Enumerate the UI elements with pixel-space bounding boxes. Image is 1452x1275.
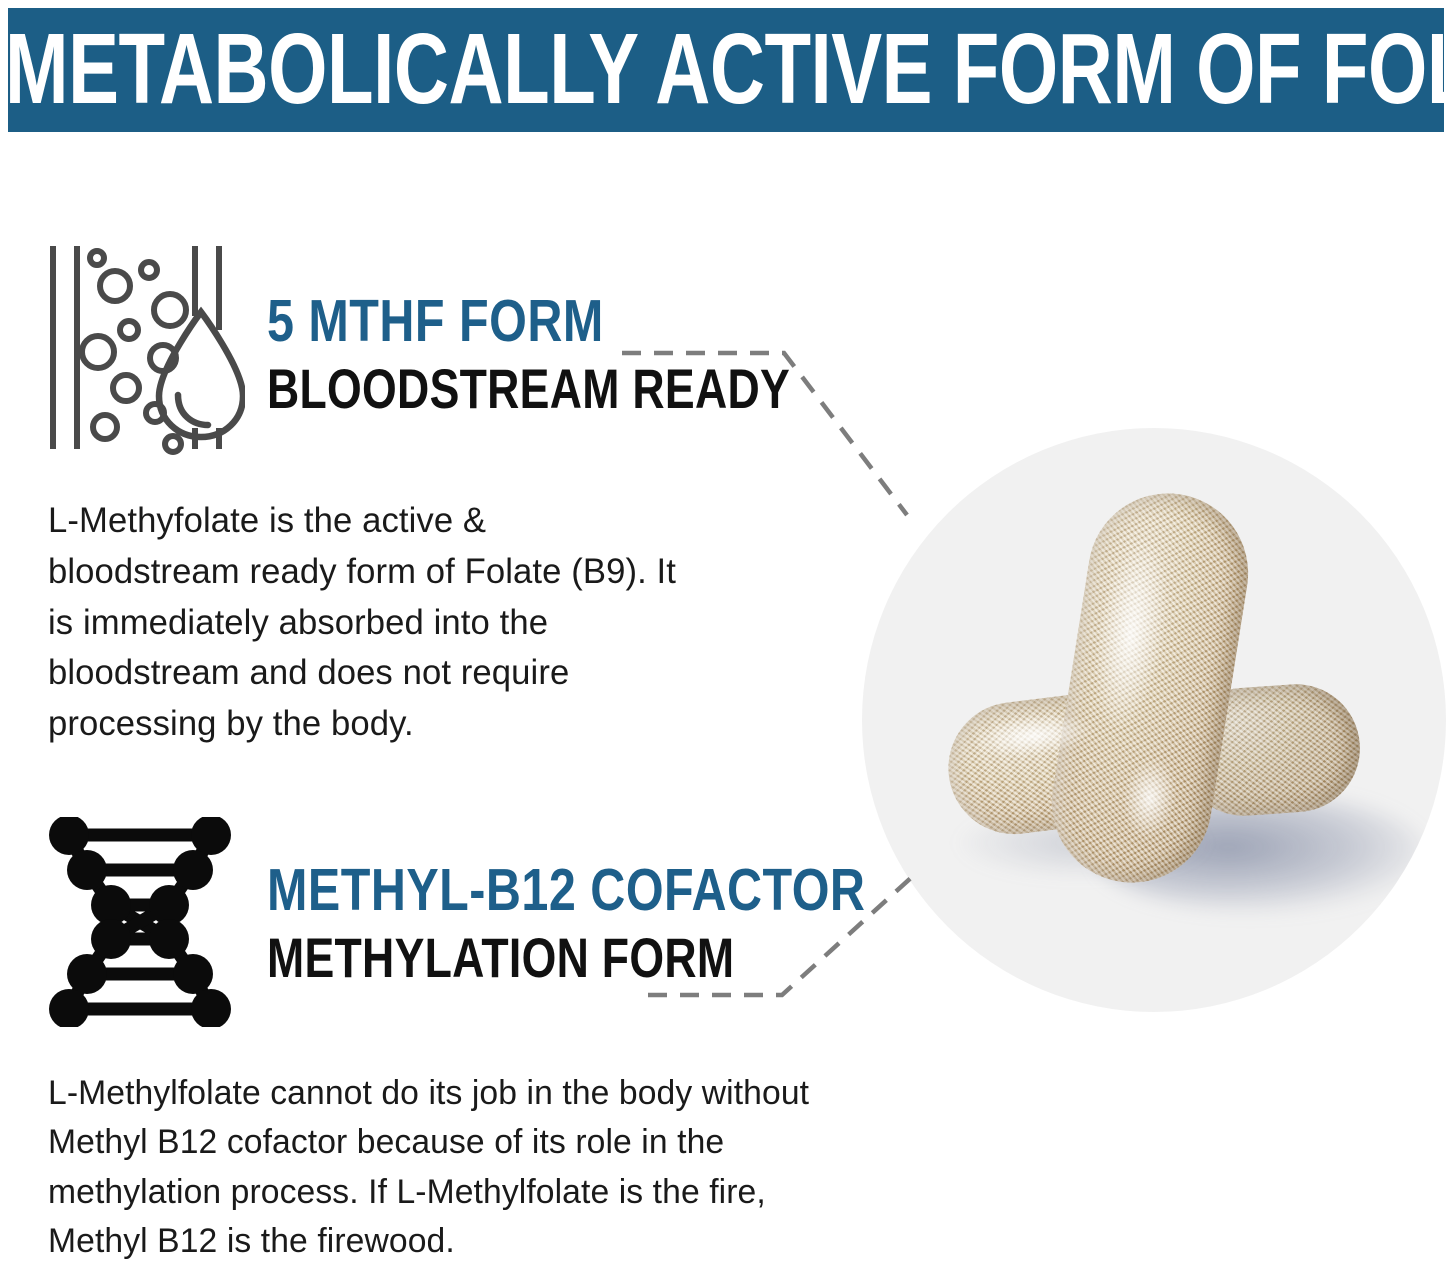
feature-heading-row-mthf: 5 MTHF FORM BLOODSTREAM READY xyxy=(0,240,880,470)
heading-group-b12: METHYL-B12 COFACTOR METHYLATION FORM xyxy=(267,817,884,981)
content-column: 5 MTHF FORM BLOODSTREAM READY L-Methyfol… xyxy=(0,132,880,1275)
dna-helix-icon xyxy=(45,817,235,1027)
page-title: THE METABOLICALLY ACTIVE FORM OF FOLATE xyxy=(8,20,1444,120)
feature-block-b12: METHYL-B12 COFACTOR METHYLATION FORM L-M… xyxy=(0,817,880,1266)
feature-heading-primary-b12: METHYL-B12 COFACTOR xyxy=(267,860,865,920)
bloodstream-droplet-icon xyxy=(45,240,245,455)
icon-container-mthf xyxy=(45,240,255,455)
heading-group-mthf: 5 MTHF FORM BLOODSTREAM READY xyxy=(267,240,806,412)
feature-block-mthf: 5 MTHF FORM BLOODSTREAM READY L-Methyfol… xyxy=(0,240,880,750)
header-banner: THE METABOLICALLY ACTIVE FORM OF FOLATE xyxy=(8,8,1444,132)
feature-heading-row-b12: METHYL-B12 COFACTOR METHYLATION FORM xyxy=(0,817,880,1047)
infographic-page: THE METABOLICALLY ACTIVE FORM OF FOLATE xyxy=(0,0,1452,1275)
product-image-circle xyxy=(862,428,1446,1012)
icon-container-b12 xyxy=(45,817,255,1027)
feature-heading-primary-mthf: 5 MTHF FORM xyxy=(267,291,604,351)
feature-body-mthf: L-Methyfolate is the active & bloodstrea… xyxy=(48,496,682,750)
feature-heading-secondary-b12: METHYLATION FORM xyxy=(267,930,734,985)
feature-heading-secondary-mthf: BLOODSTREAM READY xyxy=(267,361,790,416)
feature-body-b12: L-Methylfolate cannot do its job in the … xyxy=(48,1069,830,1266)
